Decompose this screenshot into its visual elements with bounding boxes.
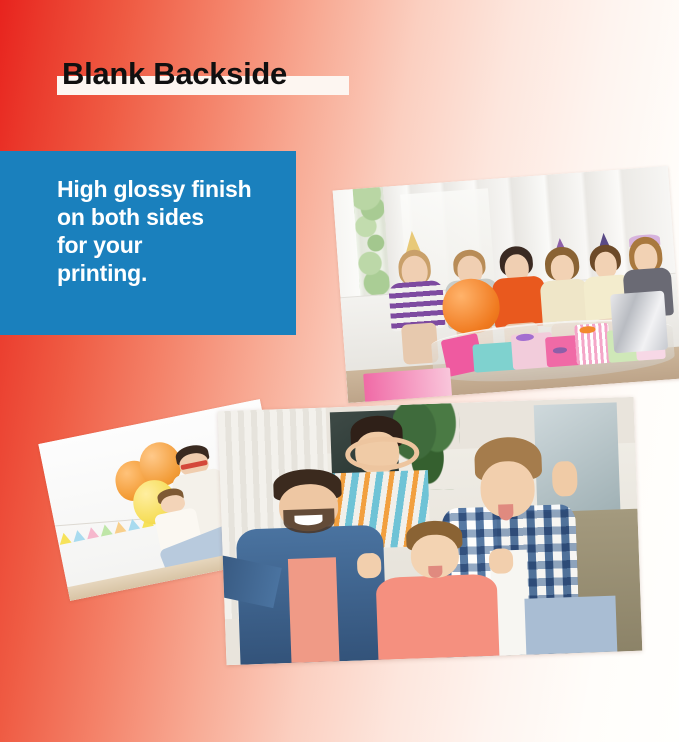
floor-gift-box	[363, 368, 452, 403]
girl-hand-right	[489, 548, 514, 574]
callout-line-1: High glossy finish	[57, 175, 251, 203]
tongue-out	[498, 504, 513, 520]
party-scene	[333, 166, 679, 403]
callout-text: High glossy finish on both sides for you…	[57, 175, 251, 287]
bunting-flag	[113, 520, 127, 533]
callout-line-4: printing.	[57, 259, 251, 287]
glossy-finish-callout: High glossy finish on both sides for you…	[0, 151, 296, 335]
father-tshirt	[288, 557, 340, 663]
mother-hand-right	[552, 461, 578, 497]
family-selfie-photo	[218, 397, 643, 665]
bunting-flag	[58, 531, 72, 544]
bunting-flag	[126, 517, 140, 530]
girl-pink-top	[375, 573, 499, 659]
callout-line-2: on both sides	[57, 203, 251, 231]
jeans	[524, 596, 617, 655]
girl-hand-left	[357, 553, 382, 579]
birthday-party-photo	[333, 166, 679, 403]
headline-block: Blank Backside	[57, 55, 357, 101]
bunting-flag	[71, 528, 85, 541]
girl-figure	[380, 519, 493, 660]
selfie-scene	[218, 397, 643, 665]
callout-line-3: for your	[57, 231, 251, 259]
bunting-flag	[99, 523, 113, 536]
poster-canvas: Blank Backside High glossy finish on bot…	[0, 0, 679, 742]
foil-wrapped-gift	[610, 290, 668, 353]
bunting-flag	[85, 526, 99, 539]
page-title: Blank Backside	[62, 55, 287, 93]
